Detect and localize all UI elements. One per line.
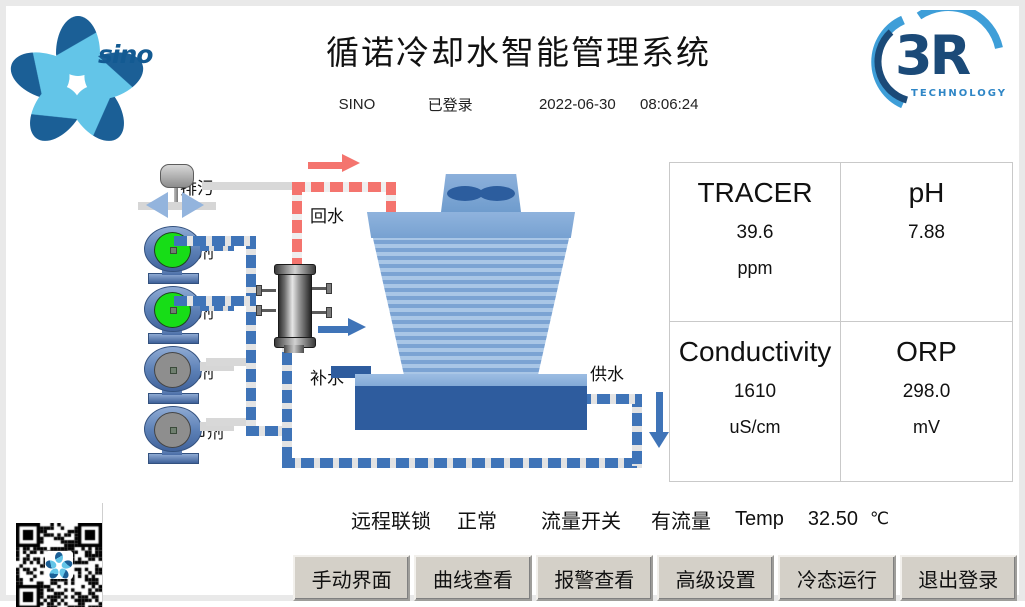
measurement-cell-orp: ORP 298.0 mV — [841, 322, 1012, 481]
measurement-value: 39.6 — [737, 222, 774, 244]
hx-top-flange — [274, 264, 316, 275]
header-status-line: SINO 已登录 2022-06-30 08:06:24 — [6, 94, 1025, 115]
supply-arrow-shaft — [656, 392, 663, 434]
dosing-pipe-vertical — [246, 236, 256, 436]
button-view-alarms[interactable]: 报警查看 — [536, 555, 653, 601]
measurement-panel: TRACER 39.6 ppm pH 7.88 Conductivity 161… — [669, 162, 1013, 482]
measurement-value: 7.88 — [908, 222, 945, 244]
temp-unit: ℃ — [870, 509, 889, 529]
pump-status-indicator — [154, 352, 191, 388]
pump-hub — [170, 247, 177, 254]
measurement-cell-ph: pH 7.88 — [841, 163, 1012, 322]
pump-biocide[interactable] — [142, 346, 204, 404]
temp-value: 32.50 — [808, 508, 858, 531]
button-view-curves[interactable]: 曲线查看 — [414, 555, 531, 601]
remote-interlock-label: 远程联锁 — [351, 505, 431, 534]
hx-shell — [278, 271, 312, 343]
label-supply-water: 供水 — [588, 360, 626, 385]
dosing-pipe-inhibitor — [174, 296, 256, 306]
valve-body-right — [182, 192, 204, 218]
biocide-pipe — [206, 358, 250, 366]
button-cold-start-run[interactable]: 冷态运行 — [778, 555, 895, 601]
hx-flange — [256, 305, 262, 316]
blowdown-valve[interactable] — [142, 164, 214, 220]
fan-blade-icon — [479, 186, 515, 201]
pump-casing — [144, 406, 202, 452]
blowdown-pipe — [202, 182, 294, 190]
supply-loop-bottom — [282, 458, 642, 468]
temp-label: Temp — [735, 508, 784, 531]
pump-casing — [144, 286, 202, 332]
navigation-button-bar: 手动界面 曲线查看 报警查看 高级设置 冷态运行 退出登录 — [293, 555, 1017, 601]
pump-status-indicator — [154, 412, 191, 448]
tower-upper-shroud — [367, 212, 575, 238]
system-status-row: 远程联锁 正常 流量开关 有流量 Temp 32.50 ℃ — [351, 502, 1011, 536]
measurement-name: TRACER — [697, 175, 812, 210]
hx-flange — [256, 285, 262, 296]
pump-casing — [144, 346, 202, 392]
pump-casing — [144, 226, 202, 272]
qr-center-logo — [45, 551, 73, 579]
fan-blade-icon — [447, 186, 483, 201]
flow-switch-value: 有流量 — [651, 505, 711, 534]
cooling-tower — [351, 174, 591, 424]
tower-fan-stack — [441, 174, 521, 212]
measurement-value: 298.0 — [903, 381, 951, 403]
hx-flange — [326, 307, 332, 318]
qr-code — [16, 523, 102, 607]
ph-pipe — [206, 418, 250, 426]
button-advanced-settings[interactable]: 高级设置 — [657, 555, 774, 601]
hx-drain-cap — [284, 345, 304, 353]
dosing-pipe-antiscalant — [174, 236, 256, 246]
pump-antiscalant[interactable] — [142, 226, 204, 284]
heat-exchanger-vessel[interactable] — [272, 261, 316, 353]
pump-hub — [170, 367, 177, 374]
supply-flow-arrow-icon — [649, 432, 669, 448]
return-arrow-shaft — [308, 162, 344, 169]
page-title: 循诺冷却水智能管理系统 — [6, 26, 1025, 74]
measurement-name: pH — [909, 175, 945, 210]
pump-hub — [170, 427, 177, 434]
current-date: 2022-06-30 — [539, 96, 616, 113]
current-user: SINO — [339, 96, 376, 113]
measurement-unit: ppm — [737, 258, 772, 279]
pump-corrosion-inhibitor[interactable] — [142, 286, 204, 344]
footer-divider — [102, 503, 103, 607]
measurement-name: ORP — [896, 334, 957, 369]
flow-switch-label: 流量开关 — [541, 505, 621, 534]
logo-petal — [61, 559, 74, 570]
button-logout[interactable]: 退出登录 — [900, 555, 1017, 601]
measurement-value: 1610 — [734, 381, 776, 403]
pump-ph-adjuster[interactable] — [142, 406, 204, 464]
return-flow-arrow-icon — [342, 154, 360, 172]
pump-hub — [170, 307, 177, 314]
valve-body-left — [146, 192, 168, 218]
measurement-cell-tracer: TRACER 39.6 ppm — [670, 163, 841, 322]
current-time: 08:06:24 — [640, 96, 698, 113]
hmi-screen: sino 3R TECHNOLOGY 循诺冷却水智能管理系统 SINO 已登录 … — [0, 0, 1025, 601]
login-status: 已登录 — [428, 94, 473, 115]
supply-loop-right — [632, 394, 642, 466]
measurement-unit: uS/cm — [729, 417, 780, 438]
hx-flange — [326, 283, 332, 294]
valve-actuator[interactable] — [160, 164, 194, 188]
measurement-cell-conductivity: Conductivity 1610 uS/cm — [670, 322, 841, 481]
remote-interlock-value: 正常 — [457, 505, 497, 534]
makeup-arrow-shaft — [318, 326, 350, 333]
button-manual-interface[interactable]: 手动界面 — [293, 555, 410, 601]
measurement-name: Conductivity — [679, 334, 832, 369]
measurement-unit: mV — [913, 417, 940, 438]
tower-basin — [355, 386, 587, 430]
label-return-water: 回水 — [308, 202, 346, 227]
